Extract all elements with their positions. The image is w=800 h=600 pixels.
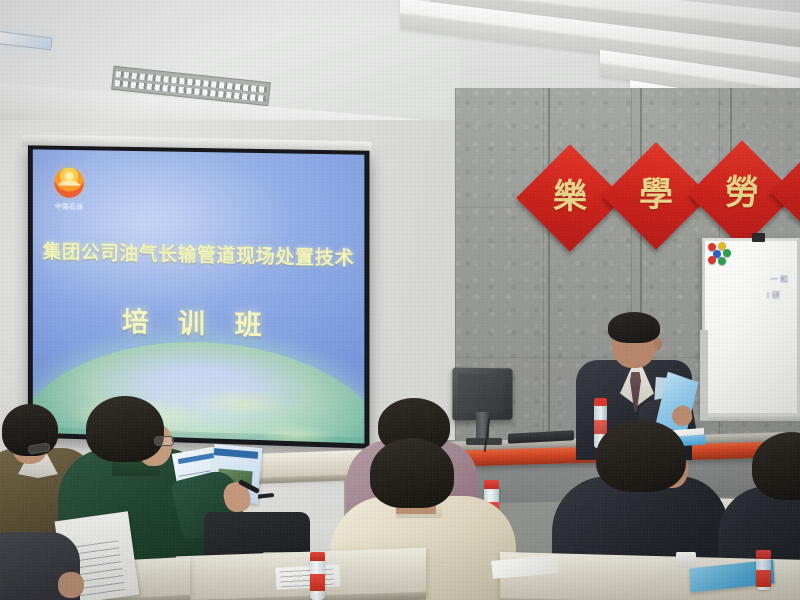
whiteboard-side-edge [700,330,708,420]
water-bottle-label [594,420,607,434]
whiteboard-marker-tray [700,414,800,421]
eyeglasses-icon [154,436,174,446]
whiteboard-handwriting: 1 研 [766,290,780,301]
water-bottle-cap[interactable] [484,480,499,489]
magnet-icon[interactable] [723,249,731,257]
water-bottle-label [756,570,771,587]
water-bottle-cap[interactable] [756,550,771,559]
binder-clip-icon [752,233,765,242]
conference-room-photo: 樂 學 勞 習 一 和 1 研 中国石油 集团公司油气长输管道现场处置 [0,0,800,600]
water-bottle-cap[interactable] [594,398,607,406]
projection-screen[interactable]: 中国石油 集团公司油气长输管道现场处置技术 培 训 班 [28,145,370,448]
projected-slide: 中国石油 集团公司油气长输管道现场处置技术 培 训 班 [33,149,365,443]
monitor-back-panel [458,374,504,413]
presenter-ear [654,338,662,350]
attendee-foreground-hand [58,572,84,598]
globe-atmosphere [33,337,365,440]
magnet-icon[interactable] [708,256,716,264]
handout-text-lines [280,569,335,588]
whiteboard-handwriting: 一 和 [770,274,788,285]
plaque-character: 樂 [553,181,587,215]
plaque-character: 勞 [725,177,759,211]
stone-seam [548,88,550,448]
petrochina-sun-emblem-icon [54,168,84,198]
magnet-icon[interactable] [718,257,726,265]
whiteboard[interactable] [702,238,800,416]
petrochina-logo: 中国石油 [47,167,92,211]
paper-cup[interactable] [676,552,696,568]
presenter-hair [608,312,660,343]
attendee-green-sweater-head [86,396,164,462]
plaque-character: 學 [639,179,673,213]
attendee-cream-jacket-head [370,438,454,508]
water-bottle-cap[interactable] [310,552,325,561]
earth-globe-graphic [33,337,365,444]
attendee-dark-suit-head [596,420,686,492]
water-bottle-label [310,574,325,591]
logo-caption: 中国石油 [47,200,92,211]
